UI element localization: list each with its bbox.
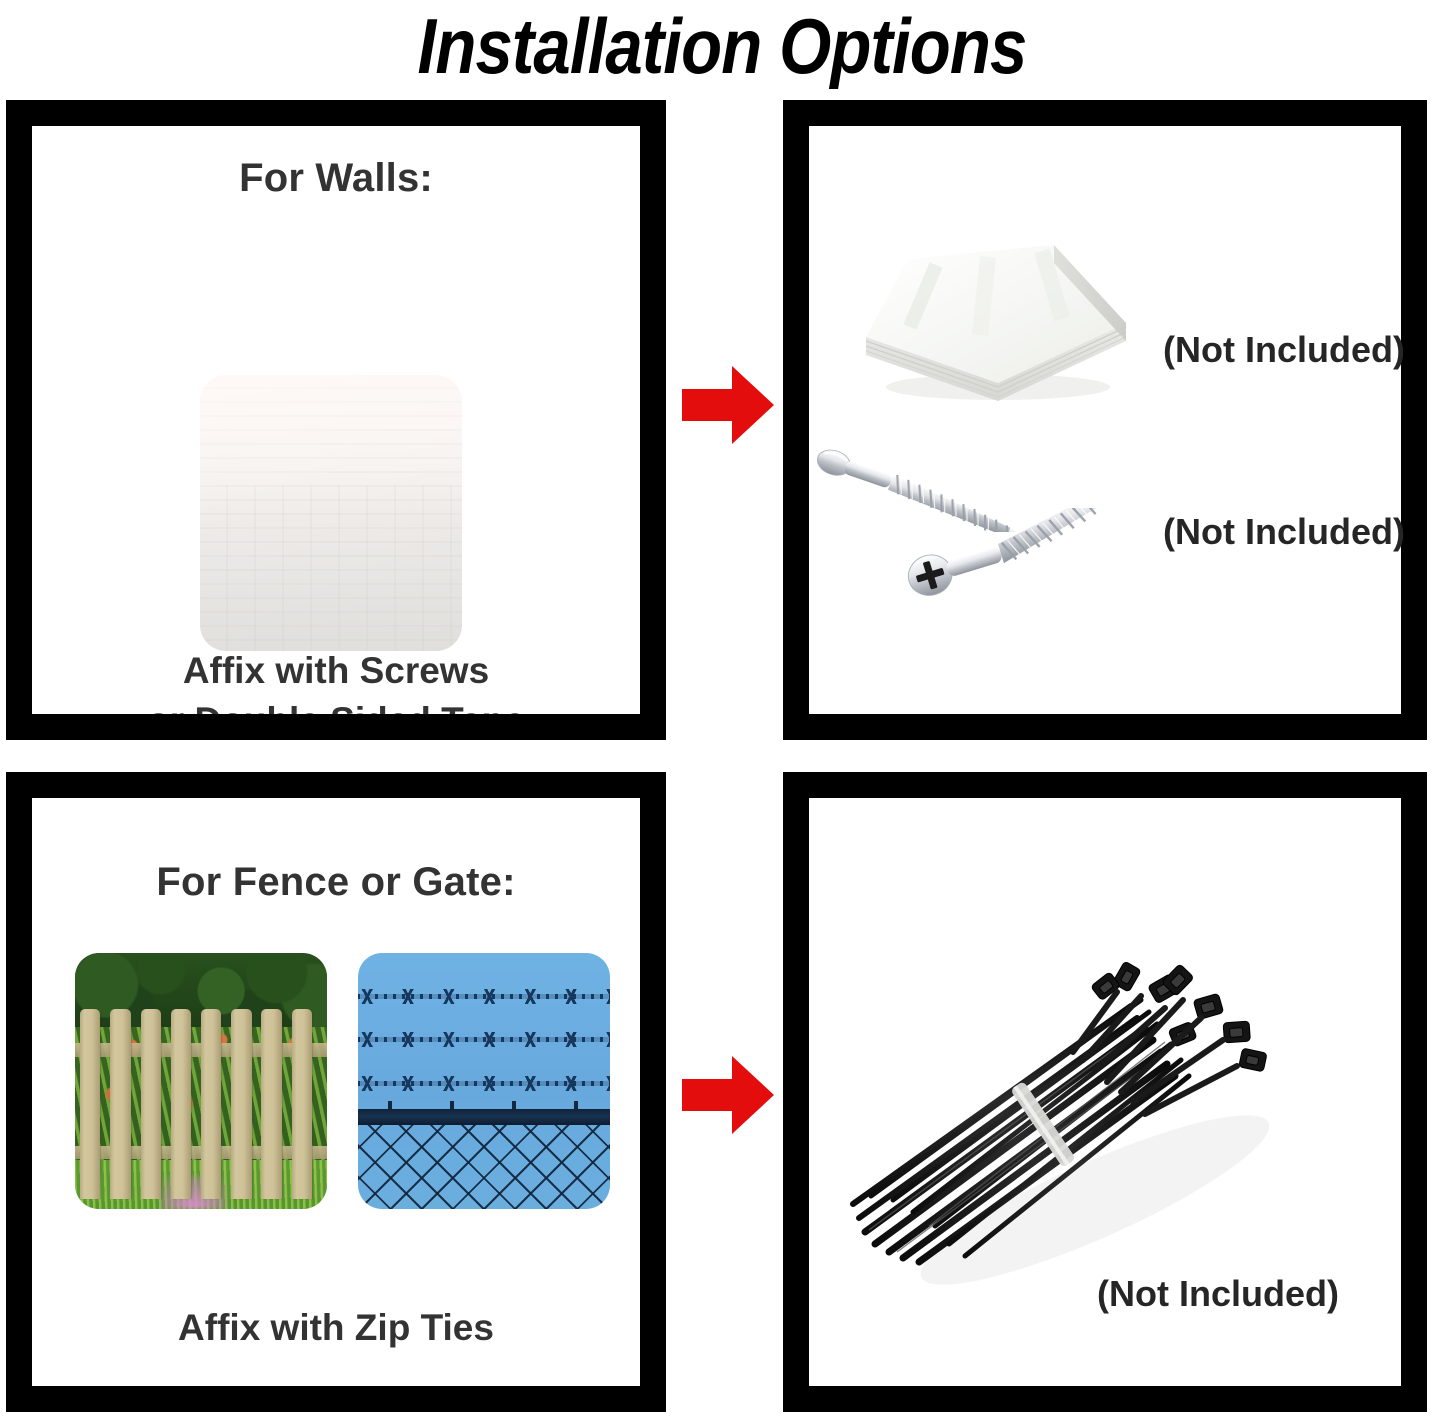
- barbed-wire-strand: [358, 1081, 610, 1086]
- for-walls-caption-line2: or Double Sided Tape: [32, 696, 640, 714]
- for-fence-caption-line1: Affix with Zip Ties: [32, 1303, 640, 1353]
- picket-slat: [292, 1009, 312, 1198]
- for-walls-heading: For Walls:: [32, 156, 640, 201]
- tape-stack-svg: [848, 215, 1134, 405]
- wooden-picket-fence-photo: [75, 953, 327, 1209]
- arrow-right-icon-svg: [680, 363, 776, 447]
- page-title: Installation Options: [418, 7, 1027, 85]
- picket-slat: [171, 1009, 191, 1198]
- picket-slat: [110, 1009, 130, 1198]
- picket-slat: [141, 1009, 161, 1198]
- white-brick-wall-swatch-image: [200, 375, 462, 651]
- double-sided-tape-stack-image: [848, 215, 1134, 405]
- arrow-right-top-icon: [680, 363, 776, 447]
- chain-link-mesh: [358, 1125, 610, 1209]
- picket-slats: [75, 1009, 327, 1198]
- panel-for-walls: For Walls: Affix with Screws or Double S…: [6, 100, 666, 740]
- fence-top-rail: [358, 1109, 610, 1125]
- ziptie-not-included-label: (Not Included): [1097, 1273, 1339, 1315]
- wall-light-wash: [200, 375, 462, 651]
- black-zip-ties-bundle-image: [845, 900, 1345, 1300]
- picket-slat: [261, 1009, 281, 1198]
- barbed-wire-strand: [358, 1037, 610, 1042]
- arrow-right-bottom-icon: [680, 1053, 776, 1137]
- zip-ties-svg: [845, 900, 1345, 1300]
- picket-slat: [231, 1009, 251, 1198]
- picket-slat: [201, 1009, 221, 1198]
- chain-link-barbed-wire-fence-photo: [358, 953, 610, 1209]
- panel-for-walls-content: For Walls: Affix with Screws or Double S…: [32, 126, 640, 714]
- arrow-right-icon-svg-2: [680, 1053, 776, 1137]
- picket-slat: [80, 1009, 100, 1198]
- for-fence-or-gate-heading: For Fence or Gate:: [32, 860, 640, 905]
- for-walls-caption-line1: Affix with Screws: [32, 646, 640, 696]
- screw-lower-svg: [890, 508, 1170, 604]
- tape-not-included-label: (Not Included): [1163, 329, 1405, 371]
- panel-wall-hardware: [783, 100, 1427, 740]
- screws-not-included-label: (Not Included): [1163, 511, 1405, 553]
- page-title-bar: Installation Options: [0, 0, 1445, 92]
- barbed-wire-strand: [358, 994, 610, 999]
- screw-lower-image: [890, 508, 1170, 604]
